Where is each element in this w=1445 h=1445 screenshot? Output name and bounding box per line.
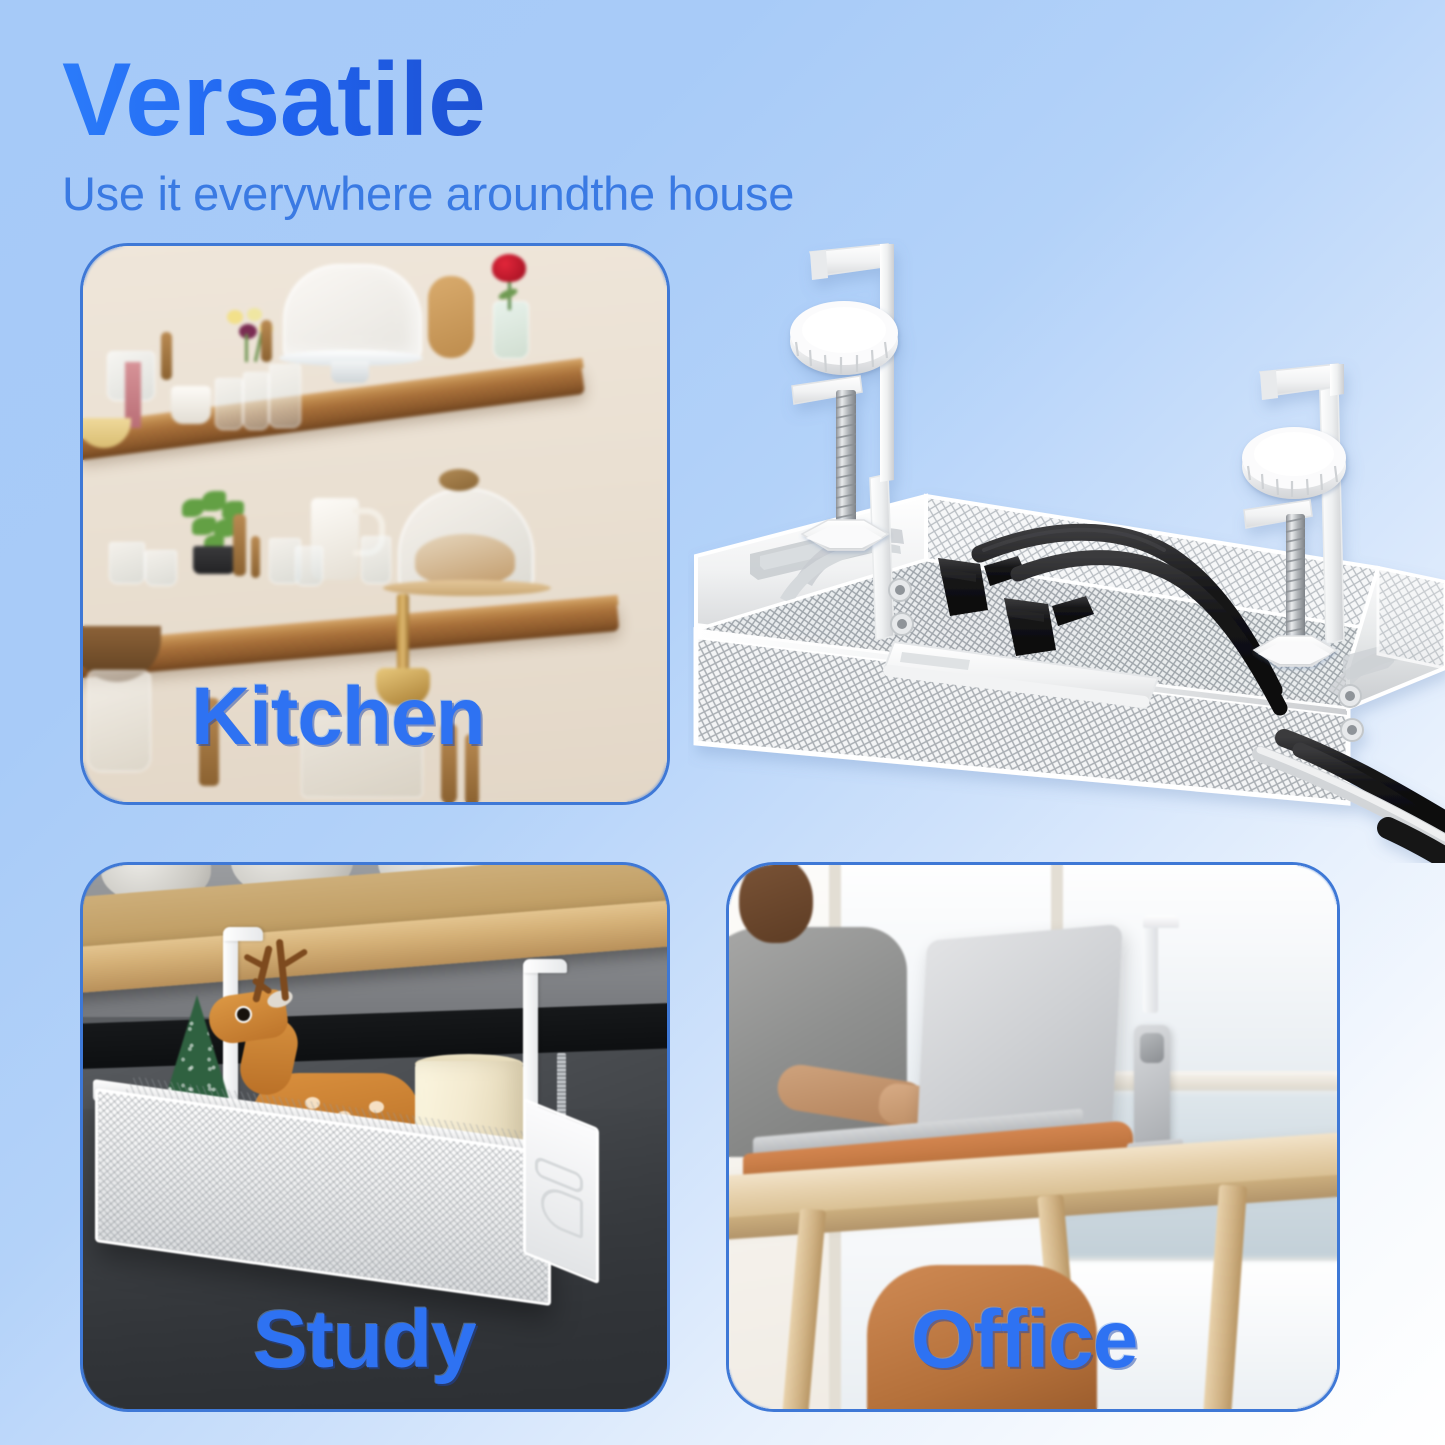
card-label-study: Study — [253, 1293, 476, 1387]
wood-utensil — [161, 332, 172, 380]
rose-icon — [492, 254, 526, 282]
cake-stand-foot — [331, 361, 369, 383]
small-flowers — [223, 308, 283, 360]
glass-tumbler — [243, 372, 269, 430]
card-label-office: Office — [911, 1293, 1137, 1387]
scene-card-office[interactable]: Office — [726, 862, 1340, 1412]
clamp-hook — [523, 959, 567, 973]
wood-utensil — [261, 320, 272, 362]
phone-camera-module — [1140, 1033, 1164, 1063]
glass-goblet — [269, 364, 301, 428]
page-title: Versatile — [62, 48, 1062, 152]
bread-loaf — [415, 534, 515, 584]
clamp-icon — [1143, 921, 1158, 1013]
clamp-hook — [1143, 915, 1179, 928]
brass-faucet — [397, 594, 409, 676]
headline-block: Versatile Use it everywhere aroundthe ho… — [62, 48, 1062, 221]
small-bowl — [145, 550, 177, 586]
dome-knob — [439, 469, 479, 491]
wood-utensil — [251, 536, 260, 578]
page-subtitle: Use it everywhere aroundthe house — [62, 166, 1062, 221]
bud-vase — [493, 301, 529, 359]
white-mug — [171, 386, 211, 424]
scene-card-study[interactable]: Study — [80, 862, 670, 1412]
glass-tumbler — [361, 536, 391, 584]
glass-tumbler — [215, 378, 243, 430]
scene-card-kitchen[interactable]: Kitchen — [80, 243, 670, 805]
deer-eye — [235, 1006, 252, 1023]
wood-board — [428, 276, 474, 358]
person-head — [739, 865, 813, 943]
small-bowl — [109, 542, 145, 584]
herb-pot — [193, 546, 235, 574]
wood-utensil — [233, 514, 246, 576]
glass-tumbler — [295, 546, 323, 586]
card-label-kitchen: Kitchen — [191, 670, 485, 764]
glass-cake-dome-icon — [283, 264, 422, 360]
product-hero-image — [688, 238, 1445, 863]
large-glass-jar — [87, 670, 151, 772]
wood-serving-board — [383, 580, 551, 596]
promo-canvas: Versatile Use it everywhere aroundthe ho… — [0, 0, 1445, 1445]
clamp-hook — [223, 927, 263, 941]
